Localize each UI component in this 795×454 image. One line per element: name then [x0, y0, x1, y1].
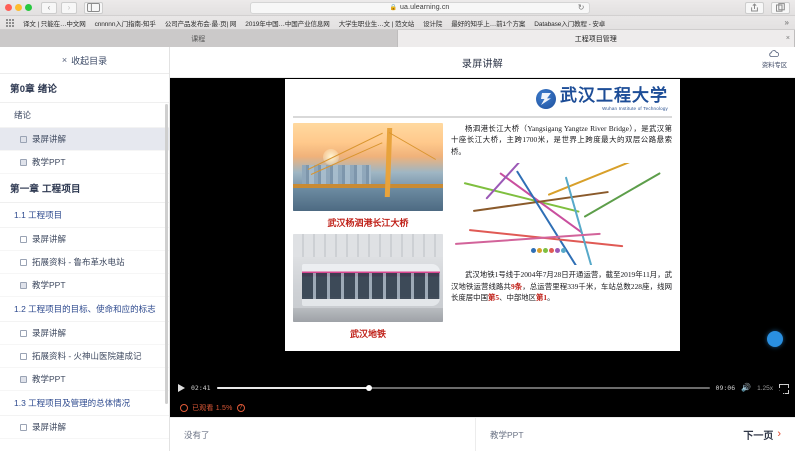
outline-scroll-area[interactable]: 第0章 绪论 绪论 录屏讲解 教学PPT 第一章 工程项目 1.1 工程项目 录…	[0, 74, 169, 451]
content-header: 录屏讲解 资料专区	[170, 47, 795, 78]
close-window-button[interactable]	[5, 4, 12, 11]
checkbox-icon	[20, 330, 27, 337]
slide-left-column: 武汉杨泗港长江大桥 武汉地铁	[293, 123, 443, 345]
ceiling-decor	[293, 234, 443, 257]
outline-item-recording[interactable]: 录屏讲解	[0, 228, 169, 251]
outline-item-recording[interactable]: 录屏讲解	[0, 416, 169, 439]
apps-grid-icon[interactable]	[6, 19, 14, 27]
metro-line-decor	[565, 176, 595, 265]
outline-item-label: 拓展资料 - 鲁布革水电站	[32, 256, 125, 268]
checkbox-icon	[20, 353, 27, 360]
outline-item-extra-material[interactable]: 拓展资料 - 火神山医院建成记	[0, 345, 169, 368]
outline-item-ppt[interactable]: 教学PPT	[0, 274, 169, 297]
platform-decor	[293, 308, 443, 322]
slide-right-column: 杨泗港长江大桥（Yangsigang Yangtze River Bridge）…	[451, 123, 672, 345]
share-icon	[750, 3, 759, 12]
resource-area-button[interactable]: 资料专区	[762, 49, 787, 69]
metro-paragraph: 武汉地铁1号线于2004年7月28日开通运营，截至2019年11月，武汉地铁运营…	[451, 269, 672, 303]
outline-item-label: 录屏讲解	[32, 421, 66, 433]
bookmark-item[interactable]: 大学生职业生…文 | 范文站	[339, 18, 414, 28]
bridge-deck-decor	[293, 184, 443, 188]
outline-item-ppt[interactable]: 教学PPT	[0, 368, 169, 391]
metro-text-highlight-lines: 9条	[511, 282, 522, 291]
video-stage[interactable]: 武汉工程大学 Wuhan Institute of Technology	[170, 78, 795, 377]
bookmark-item[interactable]: cnnnnn入门指南-知乎	[95, 18, 156, 28]
collapse-outline-label: 收起目录	[71, 54, 107, 67]
outline-item-label: 录屏讲解	[32, 133, 66, 145]
outline-section[interactable]: 1.3 工程项目及管理的总体情况	[0, 391, 169, 416]
metro-map-graphic	[451, 163, 672, 265]
outline-section[interactable]: 绪论	[0, 103, 169, 128]
outline-section[interactable]: 1.1 工程项目	[0, 203, 169, 228]
sidebar-icon	[87, 3, 100, 12]
tab-label: 工程项目管理	[575, 34, 617, 44]
metro-line-decor	[499, 172, 582, 233]
playback-speed-button[interactable]: 1.25x	[757, 385, 773, 392]
metro-text-mid2: 、中部地区	[499, 293, 536, 302]
bridge-cable-decor	[308, 133, 383, 170]
play-icon[interactable]	[178, 384, 185, 392]
outline-item-label: 教学PPT	[32, 279, 66, 291]
outline-section[interactable]: 1.2 工程项目的目标、使命和应的标志	[0, 297, 169, 322]
university-logo: 武汉工程大学 Wuhan Institute of Technology	[293, 84, 672, 114]
slide-frame: 武汉工程大学 Wuhan Institute of Technology	[285, 79, 680, 351]
outline-item-recording[interactable]: 录屏讲解	[0, 322, 169, 345]
bookmarks-overflow-button[interactable]: »	[785, 18, 789, 27]
outline-item-ppt[interactable]: 教学PPT	[0, 151, 169, 174]
reload-icon[interactable]: ↻	[578, 4, 585, 12]
metro-caption: 武汉地铁	[293, 327, 443, 340]
tab-project-management[interactable]: 工程项目管理 ×	[398, 30, 795, 47]
window-traffic-lights	[5, 4, 32, 11]
bookmarks-bar: 译文 | 只能在…中文网 cnnnnn入门指南-知乎 公司产品发布会·最·页| …	[0, 16, 795, 30]
outline-item-label: 录屏讲解	[32, 233, 66, 245]
volume-icon[interactable]: 🔊	[741, 384, 751, 392]
main-content: 录屏讲解 资料专区 武汉工程大学 Wuhan Institute of Tech…	[170, 47, 795, 451]
maximize-window-button[interactable]	[25, 4, 32, 11]
floating-cursor-indicator	[767, 331, 783, 347]
browser-toolbar: ‹ › 🔒 ua.ulearning.cn ↻	[0, 0, 795, 16]
checkbox-icon	[20, 424, 27, 431]
progress-ring-icon	[180, 404, 188, 412]
bridge-caption: 武汉杨泗港长江大桥	[293, 216, 443, 229]
page-title: 录屏讲解	[170, 55, 795, 70]
url-text: ua.ulearning.cn	[400, 4, 449, 11]
metro-text-highlight-rank-national: 第5	[488, 293, 499, 302]
metro-line-decor	[583, 172, 660, 218]
river-decor	[293, 188, 443, 211]
checkbox-icon	[20, 259, 27, 266]
checkbox-icon	[20, 282, 27, 289]
total-time-label: 09:06	[716, 384, 736, 392]
bookmark-item[interactable]: 译文 | 只能在…中文网	[23, 18, 86, 28]
address-bar-container: 🔒 ua.ulearning.cn ↻	[107, 2, 732, 14]
help-icon[interactable]: ?	[237, 404, 245, 412]
outline-chapter[interactable]: 第0章 绪论	[0, 74, 169, 103]
course-outline-sidebar: × 收起目录 第0章 绪论 绪论 录屏讲解 教学PPT 第一章 工程项目 1.1…	[0, 47, 170, 451]
outline-item-extra-material[interactable]: 拓展资料 - 鲁布革水电站	[0, 251, 169, 274]
metro-text-highlight-rank-regional: 第1	[536, 293, 547, 302]
outline-item-label: 教学PPT	[32, 373, 66, 385]
next-page-label: 下一页	[743, 427, 773, 442]
tab-label: 课程	[191, 34, 205, 44]
train-doors-decor	[302, 273, 440, 299]
tabs-overview-button[interactable]	[771, 2, 790, 14]
bridge-cable-decor	[389, 132, 436, 160]
outline-item-recording[interactable]: 录屏讲解	[0, 128, 169, 151]
previous-page-label: 没有了	[184, 429, 210, 441]
sidebar-toggle-button[interactable]	[84, 2, 103, 14]
checkbox-icon	[20, 159, 27, 166]
bridge-paragraph: 杨泗港长江大桥（Yangsigang Yangtze River Bridge）…	[451, 123, 672, 157]
collapse-outline-button[interactable]: × 收起目录	[0, 47, 169, 74]
watched-percent-label: 已观看 1.5%	[192, 403, 233, 413]
video-controls: 02:41 09:06 🔊 1.25x	[170, 377, 795, 399]
metro-text-end: 。	[547, 293, 554, 302]
progress-slider[interactable]	[217, 387, 710, 389]
progress-knob[interactable]	[366, 385, 372, 391]
lock-icon: 🔒	[390, 5, 397, 11]
checkbox-icon	[20, 136, 27, 143]
metro-legend-dots	[531, 248, 566, 253]
outline-item-label: 教学PPT	[32, 156, 66, 168]
metro-photo	[293, 234, 443, 322]
chevron-right-icon: ›	[777, 429, 781, 440]
bookmark-item[interactable]: 2019年中国…中国产业信息网	[245, 18, 329, 28]
forward-button[interactable]: ›	[61, 2, 77, 14]
outline-item-label: 录屏讲解	[32, 327, 66, 339]
bookmark-item[interactable]: 设计院	[423, 18, 442, 28]
slide-divider	[293, 116, 672, 118]
resource-area-label: 资料专区	[762, 59, 787, 69]
next-resource-label: 教学PPT	[490, 429, 524, 441]
cloud-icon	[768, 49, 780, 58]
fullscreen-icon[interactable]	[779, 384, 787, 392]
watch-progress-strip: 已观看 1.5% ?	[170, 399, 795, 417]
bookmark-item[interactable]: Database入门教程 - 安卓	[534, 18, 605, 28]
bridge-photo	[293, 123, 443, 211]
address-bar[interactable]: 🔒 ua.ulearning.cn ↻	[250, 2, 590, 14]
share-button[interactable]	[745, 2, 764, 14]
slide-body: 武汉杨泗港长江大桥 武汉地铁 杨泗港长江大桥（Yangsigang Yangtz…	[293, 123, 672, 345]
checkbox-icon	[20, 236, 27, 243]
progress-fill	[217, 387, 370, 389]
toolbar-right-buttons	[742, 2, 790, 14]
tab-courses[interactable]: 课程	[0, 30, 398, 47]
metro-line-decor	[548, 163, 655, 195]
previous-page-button[interactable]: 没有了	[170, 418, 476, 451]
next-page-button[interactable]: 下一页 ›	[743, 427, 781, 442]
university-name-cn: 武汉工程大学	[560, 87, 668, 104]
page-body: × 收起目录 第0章 绪论 绪论 录屏讲解 教学PPT 第一章 工程项目 1.1…	[0, 47, 795, 451]
minimize-window-button[interactable]	[15, 4, 22, 11]
checkbox-icon	[20, 376, 27, 383]
university-name-en: Wuhan Institute of Technology	[602, 106, 668, 111]
close-icon: ×	[62, 55, 67, 65]
outline-item-label: 拓展资料 - 火神山医院建成记	[32, 350, 142, 362]
footer-navigation: 没有了 教学PPT 下一页 ›	[170, 417, 795, 451]
bookmark-item[interactable]: 最好的知乎上…前1个方案	[451, 18, 525, 28]
outline-scrollbar[interactable]	[165, 104, 168, 404]
browser-chrome: ‹ › 🔒 ua.ulearning.cn ↻	[0, 0, 795, 47]
university-badge-icon	[536, 89, 556, 109]
current-time-label: 02:41	[191, 384, 211, 392]
tab-strip: 课程 工程项目管理 ×	[0, 30, 795, 47]
tabs-icon	[776, 3, 785, 12]
next-page-area: 教学PPT 下一页 ›	[476, 418, 795, 451]
outline-chapter[interactable]: 第一章 工程项目	[0, 174, 169, 203]
close-icon[interactable]: ×	[786, 35, 790, 42]
back-button[interactable]: ‹	[41, 2, 57, 14]
bookmark-item[interactable]: 公司产品发布会·最·页| 网	[165, 18, 236, 28]
